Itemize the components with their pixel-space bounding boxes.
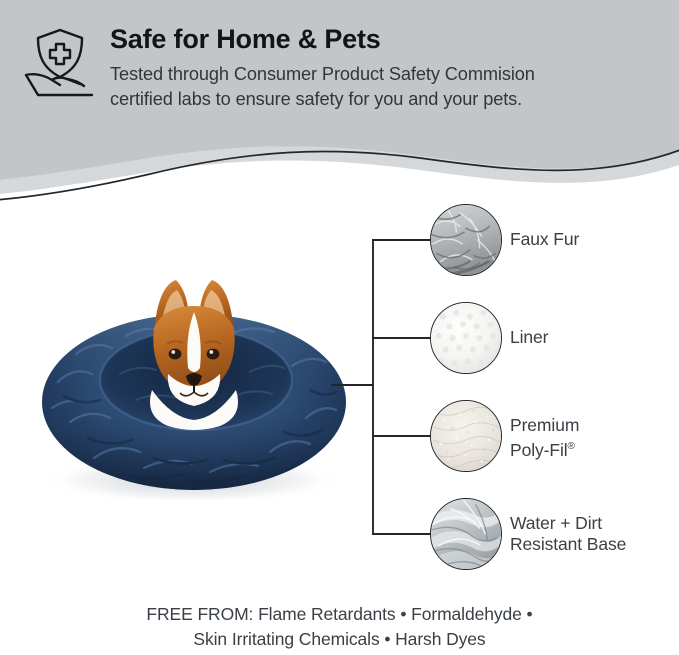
header-banner: Safe for Home & Pets Tested through Cons… — [0, 0, 679, 205]
footer-line-2: Skin Irritating Chemicals • Harsh Dyes — [0, 627, 679, 652]
callout-premium-poly-fil[interactable]: Premium Poly-Fil® — [430, 400, 679, 478]
product-photo-dog-bed — [34, 262, 354, 518]
banner-body-text: Tested through Consumer Product Safety C… — [110, 62, 670, 112]
callout-label-faux-fur: Faux Fur — [510, 229, 679, 250]
callout-label-line-1: Water + Dirt — [510, 513, 679, 534]
callout-label-line-1: Faux Fur — [510, 229, 679, 250]
swatch-poly-fil — [430, 400, 502, 472]
callout-label-line-1: Premium — [510, 415, 679, 436]
callout-faux-fur[interactable]: Faux Fur — [430, 204, 679, 282]
callout-label-text: Poly-Fil — [510, 440, 568, 460]
swatch-liner — [430, 302, 502, 374]
shield-cross-in-hand-icon — [22, 26, 98, 100]
footer-line-1: FREE FROM: Flame Retardants • Formaldehy… — [0, 602, 679, 627]
callout-label-line-2: Resistant Base — [510, 534, 679, 555]
infographic-root: Safe for Home & Pets Tested through Cons… — [0, 0, 679, 655]
callout-label-line-2: Poly-Fil® — [510, 436, 679, 461]
free-from-footer: FREE FROM: Flame Retardants • Formaldehy… — [0, 602, 679, 652]
callout-label-water-dirt-resistant-base: Water + Dirt Resistant Base — [510, 513, 679, 555]
banner-body-line-2: certified labs to ensure safety for you … — [110, 87, 670, 112]
callout-liner[interactable]: Liner — [430, 302, 679, 380]
callout-label-line-1: Liner — [510, 327, 679, 348]
callout-water-dirt-resistant-base[interactable]: Water + Dirt Resistant Base — [430, 498, 679, 576]
swatch-water-resistant-base — [430, 498, 502, 570]
registered-trademark-icon: ® — [568, 441, 575, 452]
callout-label-liner: Liner — [510, 327, 679, 348]
banner-title: Safe for Home & Pets — [110, 24, 381, 55]
banner-body-line-1: Tested through Consumer Product Safety C… — [110, 62, 670, 87]
swatch-faux-fur — [430, 204, 502, 276]
callout-label-premium-poly-fil: Premium Poly-Fil® — [510, 415, 679, 461]
